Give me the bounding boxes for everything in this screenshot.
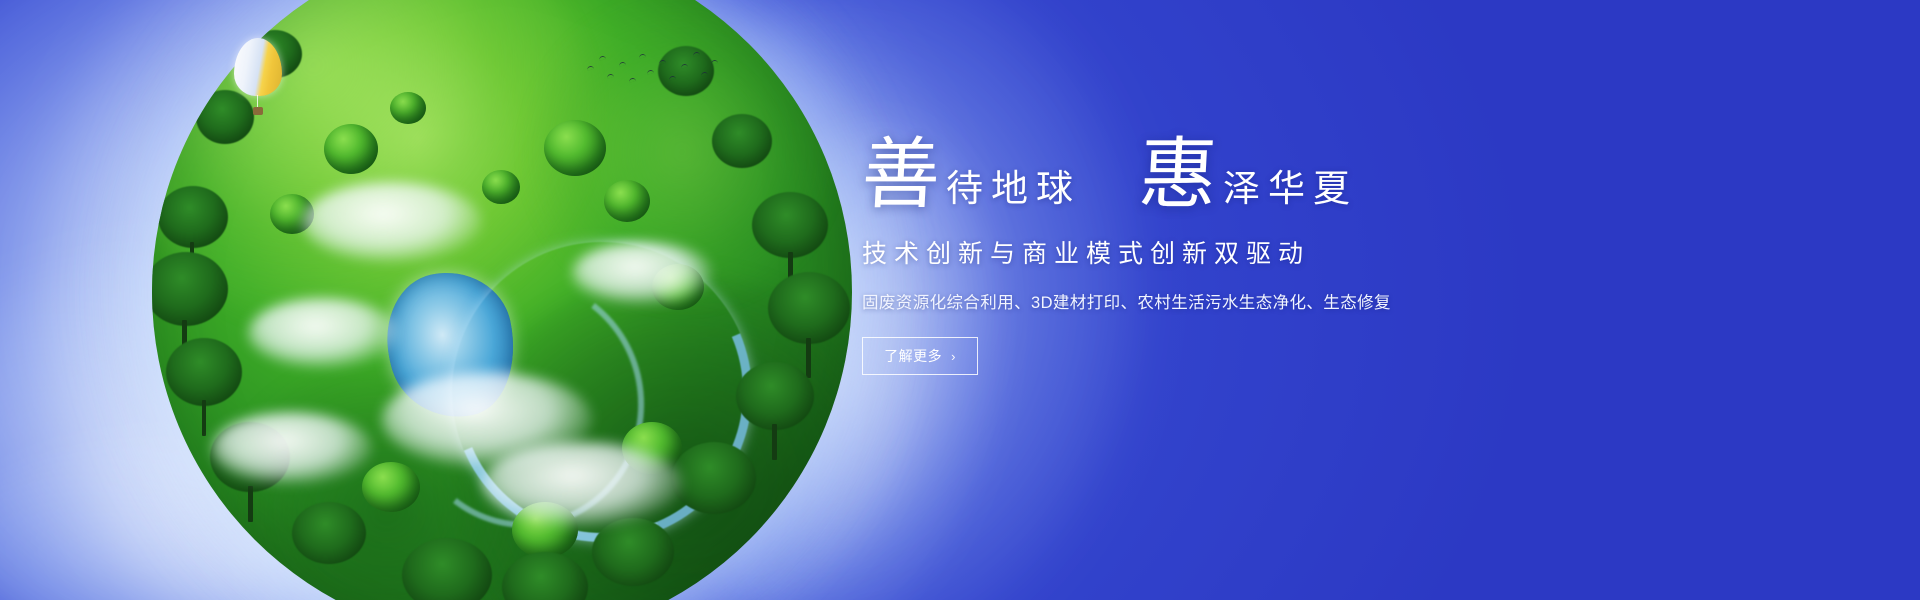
planet-cloud bbox=[248, 298, 398, 368]
planet-cloud bbox=[482, 442, 682, 526]
bird-icon bbox=[639, 54, 646, 59]
rim-tree bbox=[768, 272, 850, 344]
rim-tree bbox=[592, 518, 674, 586]
page-title: 善 待地球 惠 泽华夏 bbox=[862, 128, 1562, 214]
planet-cloud bbox=[302, 182, 482, 262]
bush bbox=[362, 462, 420, 512]
rim-tree-trunk bbox=[806, 338, 811, 378]
banner-content: 善 待地球 惠 泽华夏 技术创新与商业模式创新双驱动 固废资源化综合利用、3D建… bbox=[862, 128, 1562, 375]
banner-description: 固废资源化综合利用、3D建材打印、农村生活污水生态净化、生态修复 bbox=[862, 289, 1562, 313]
planet-cloud bbox=[572, 242, 712, 304]
rim-tree bbox=[736, 362, 814, 430]
banner-subtitle: 技术创新与商业模式创新双驱动 bbox=[862, 234, 1562, 270]
bush bbox=[390, 92, 426, 124]
rim-tree bbox=[292, 502, 366, 564]
bush bbox=[482, 170, 520, 204]
bird-icon bbox=[693, 52, 700, 57]
bird-icon bbox=[659, 60, 666, 65]
hero-banner: 善 待地球 惠 泽华夏 技术创新与商业模式创新双驱动 固废资源化综合利用、3D建… bbox=[0, 0, 1920, 600]
balloon-envelope bbox=[234, 38, 282, 96]
bird-icon bbox=[599, 56, 606, 61]
rim-tree-trunk bbox=[202, 400, 206, 436]
learn-more-button[interactable]: 了解更多 › bbox=[862, 337, 978, 375]
planet-cloud bbox=[212, 412, 372, 484]
bird-icon bbox=[647, 70, 654, 75]
bird-icon bbox=[587, 66, 594, 71]
rim-tree bbox=[752, 192, 828, 258]
rim-tree bbox=[166, 338, 242, 406]
bush bbox=[324, 124, 378, 174]
bird-icon bbox=[669, 76, 676, 81]
headline-char-hui: 惠 bbox=[1137, 136, 1221, 214]
bird-flock bbox=[585, 48, 720, 93]
rim-tree-trunk bbox=[772, 424, 777, 460]
bush bbox=[604, 180, 650, 222]
bird-icon bbox=[629, 78, 636, 83]
headline-text-zehuaxia: 泽华夏 bbox=[1223, 171, 1358, 214]
bird-icon bbox=[607, 74, 614, 79]
balloon-basket bbox=[253, 107, 263, 115]
rim-tree bbox=[672, 442, 756, 514]
bird-icon bbox=[681, 64, 688, 69]
bird-icon bbox=[711, 60, 718, 65]
rim-tree bbox=[402, 538, 492, 600]
bird-icon bbox=[619, 62, 626, 67]
bush bbox=[544, 120, 606, 176]
rim-tree bbox=[158, 186, 228, 248]
rim-tree bbox=[152, 252, 228, 326]
hot-air-balloon bbox=[234, 38, 282, 124]
rim-tree-trunk bbox=[248, 486, 253, 522]
headline-char-shan: 善 bbox=[860, 136, 944, 214]
chevron-right-icon: › bbox=[951, 349, 956, 364]
learn-more-label: 了解更多 bbox=[884, 346, 942, 366]
rim-tree bbox=[502, 552, 588, 600]
headline-text-daidiqiu: 待地球 bbox=[946, 171, 1081, 214]
bird-icon bbox=[701, 72, 708, 77]
rim-tree bbox=[712, 114, 772, 168]
